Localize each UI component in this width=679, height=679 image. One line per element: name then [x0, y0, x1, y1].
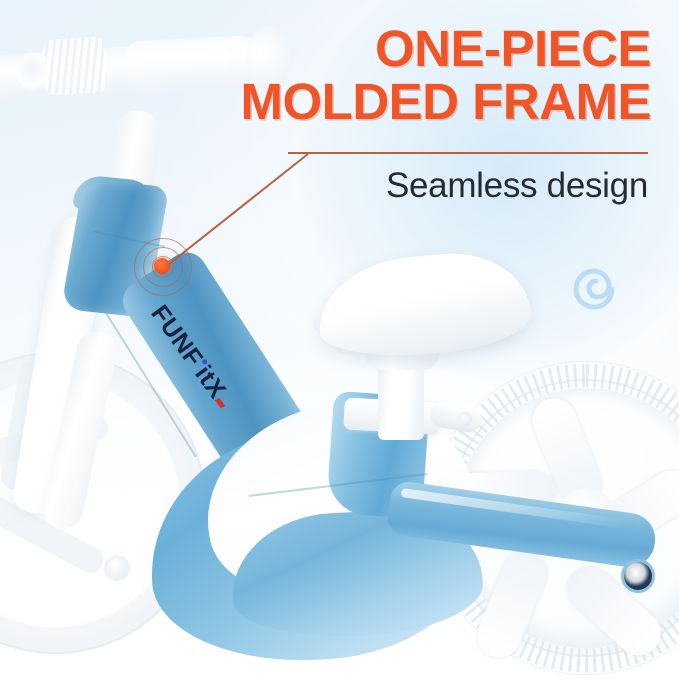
- callout-horizontal-rule: [288, 152, 648, 154]
- front-axle: [104, 555, 130, 581]
- headline-line-1: ONE-PIECE: [375, 20, 651, 77]
- subtitle: Seamless design: [0, 166, 648, 206]
- rear-axle-hub: [624, 562, 652, 590]
- quick-release-pivot: [458, 412, 472, 426]
- brand-logo-accent: [215, 398, 226, 408]
- product-marketing-image: FUNFitX ONE-PIECE MOLDED FRAME Seamless …: [0, 0, 679, 679]
- headline-line-2: MOLDED FRAME: [0, 75, 651, 128]
- headline: ONE-PIECE MOLDED FRAME: [0, 22, 651, 128]
- saddle: [314, 247, 534, 363]
- callout-target-dot: [154, 258, 170, 274]
